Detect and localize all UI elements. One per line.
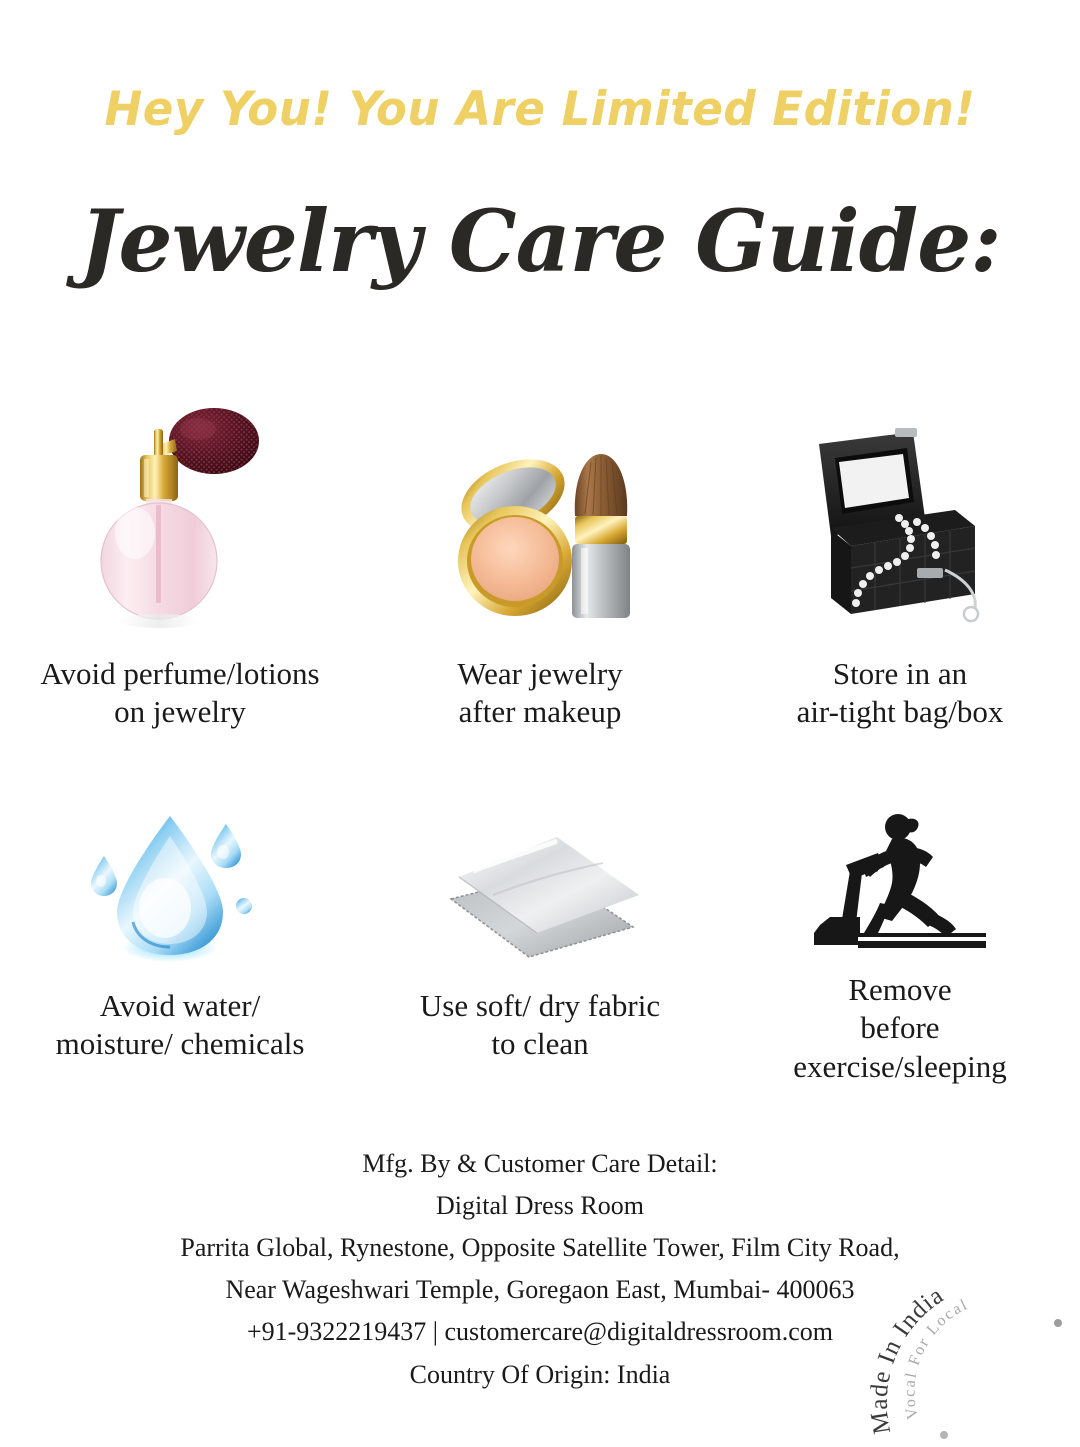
tip-caption: Store in an air-tight bag/box bbox=[797, 655, 1004, 732]
tip-card-wear-after-makeup: Wear jewelry after makeup bbox=[360, 388, 720, 732]
tip-caption: Avoid perfume/lotions on jewelry bbox=[40, 655, 319, 732]
tip-card-soft-dry-fabric: Use soft/ dry fabric to clean bbox=[360, 800, 720, 1086]
tip-caption: Avoid water/ moisture/ chemicals bbox=[56, 987, 305, 1064]
badge-dot-left bbox=[940, 1431, 948, 1439]
treadmill-runner-icon bbox=[800, 800, 1000, 965]
footer-line-company: Digital Dress Room bbox=[0, 1185, 1080, 1227]
tip-card-store-airtight: Store in an air-tight bag/box bbox=[720, 388, 1080, 732]
tips-row-2: Avoid water/ moisture/ chemicals bbox=[0, 800, 1080, 1086]
cleaning-cloth-icon bbox=[433, 800, 648, 965]
tip-caption: Remove before exercise/sleeping bbox=[793, 971, 1006, 1086]
tip-card-avoid-water: Avoid water/ moisture/ chemicals bbox=[0, 800, 360, 1086]
tip-card-avoid-perfume: Avoid perfume/lotions on jewelry bbox=[0, 388, 360, 732]
badge-dot-right bbox=[1054, 1319, 1062, 1327]
perfume-bottle-icon bbox=[80, 388, 280, 633]
jewelry-box-icon bbox=[795, 388, 1005, 633]
tagline: Hey You! You Are Limited Edition! bbox=[22, 82, 1059, 137]
footer-line-mfg-label: Mfg. By & Customer Care Detail: bbox=[0, 1143, 1080, 1185]
tip-caption: Use soft/ dry fabric to clean bbox=[420, 987, 660, 1064]
jewelry-care-guide-page: Hey You! You Are Limited Edition! Jewelr… bbox=[0, 0, 1080, 1440]
page-title: Jewelry Care Guide: bbox=[0, 192, 1080, 292]
tips-row-1: Avoid perfume/lotions on jewelry bbox=[0, 388, 1080, 732]
makeup-compact-brush-icon bbox=[435, 388, 645, 633]
water-droplet-icon bbox=[73, 800, 288, 965]
tip-caption: Wear jewelry after makeup bbox=[457, 655, 622, 732]
made-in-india-badge: Made In India Vocal For Local bbox=[866, 1252, 1080, 1442]
tip-card-remove-before-exercise: Remove before exercise/sleeping bbox=[720, 800, 1080, 1086]
